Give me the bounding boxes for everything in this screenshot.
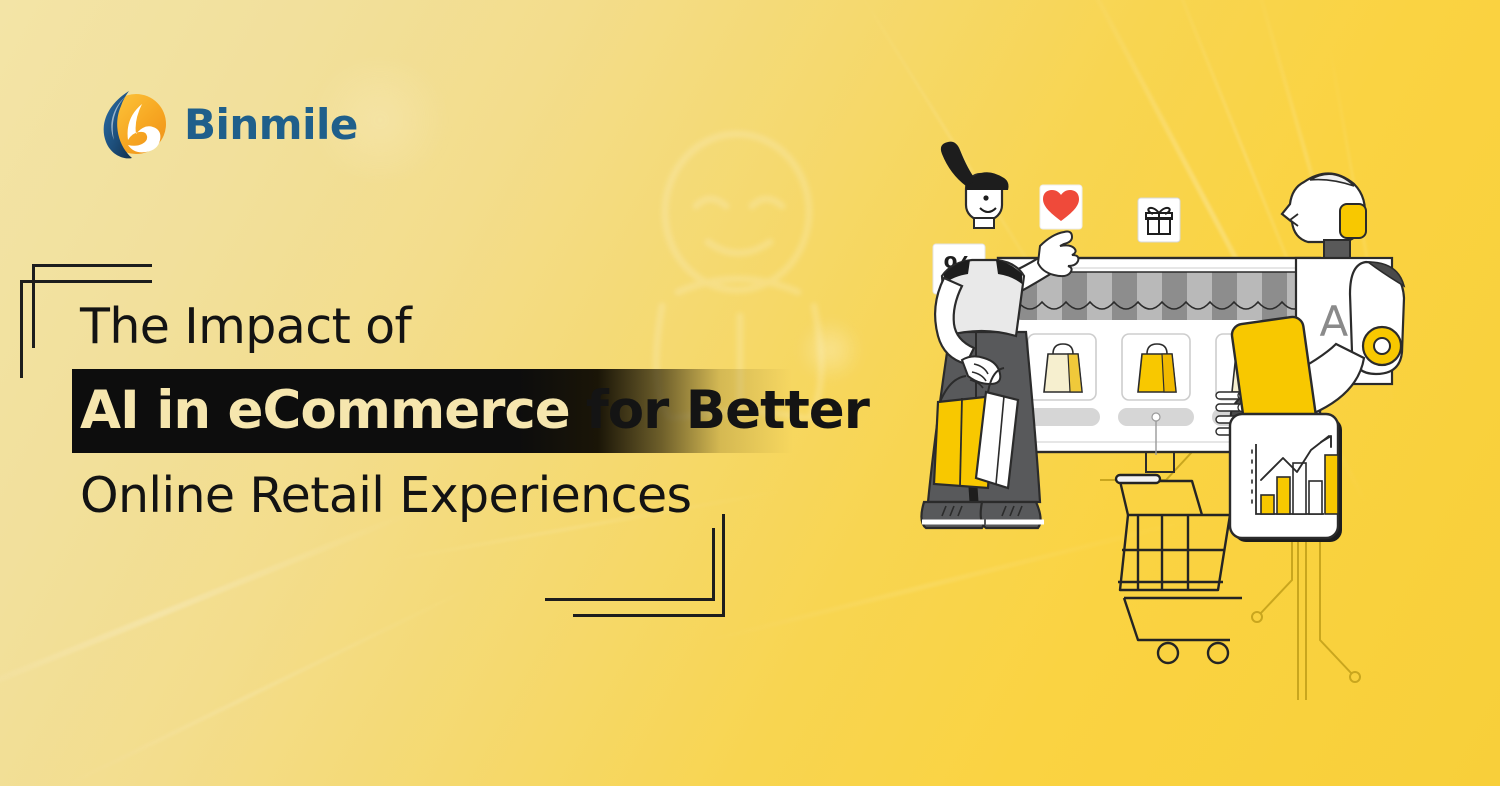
binmile-b-mark-icon [96, 88, 170, 162]
headline-block: The Impact of AI in eCommerce for Better… [72, 300, 912, 524]
headline-line-1: The Impact of [80, 300, 912, 355]
pointing-hand-icon [1038, 232, 1078, 277]
ponytail-icon [941, 142, 976, 186]
buy-button [1024, 408, 1100, 426]
brand-name: Binmile [184, 104, 358, 146]
headline-highlight-band: AI in eCommerce for Better [72, 369, 912, 453]
striped-awning [1012, 272, 1312, 322]
shopping-cart-outline [1116, 475, 1242, 663]
ai-ecommerce-illustration: % [900, 150, 1440, 710]
corner-bracket-bottom-right [545, 512, 725, 622]
banner-canvas: Binmile The Impact of AI in eCommerce fo… [0, 0, 1500, 786]
robot-headset-icon [1340, 204, 1366, 238]
gift-card [1138, 198, 1180, 242]
product-card[interactable] [1122, 334, 1190, 400]
product-card[interactable] [1028, 334, 1096, 400]
headline-highlight: AI in eCommerce [80, 380, 570, 441]
analytics-tablet[interactable] [1230, 414, 1342, 542]
brand-logo[interactable]: Binmile [96, 88, 358, 162]
favorite-card [1040, 185, 1082, 229]
headline-line-2-rest: for Better [586, 380, 869, 441]
headline-line-3: Online Retail Experiences [80, 469, 912, 524]
